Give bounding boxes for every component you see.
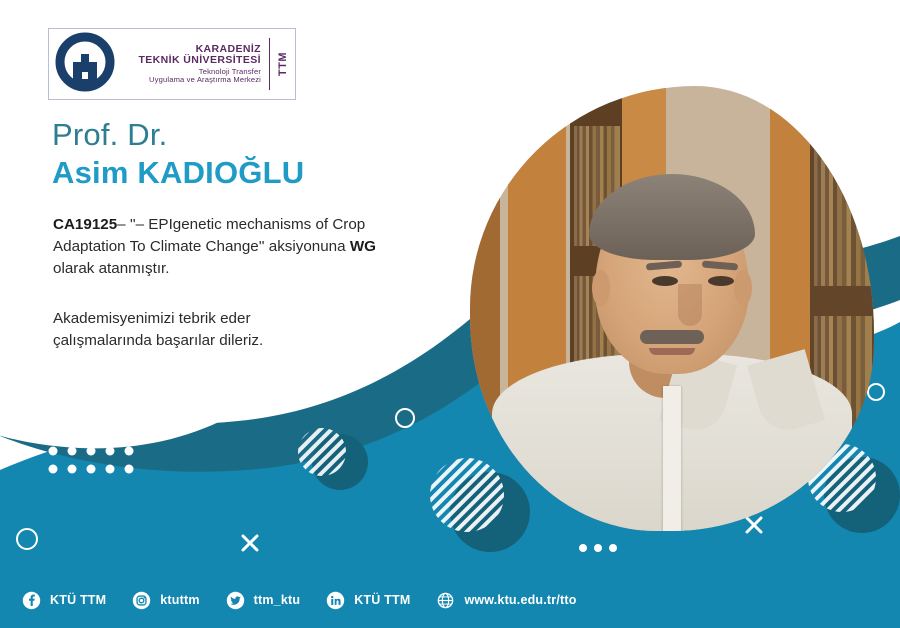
congrats-line-1: Akademisyenimizi tebrik eder [53, 308, 383, 330]
subject-ear-right [734, 270, 752, 306]
social-link-facebook[interactable]: KTÜ TTM [22, 591, 106, 610]
globe-icon [436, 591, 455, 610]
portrait-photo [470, 86, 874, 531]
social-footer: KTÜ TTM ktuttm ttm_ktu [0, 572, 900, 628]
poster-canvas: KARADENİZ TEKNİK ÜNİVERSİTESİ Teknoloji … [0, 0, 900, 628]
page-title: Prof. Dr. [52, 118, 452, 152]
social-link-twitter[interactable]: ttm_ktu [226, 591, 301, 610]
twitter-icon [226, 591, 245, 610]
subject-nose [678, 284, 702, 326]
linkedin-label: KTÜ TTM [354, 593, 410, 607]
subject-eye-left [652, 276, 678, 286]
logo-text-block: KARADENİZ TEKNİK ÜNİVERSİTESİ Teknoloji … [117, 44, 265, 84]
instagram-icon [132, 591, 151, 610]
linkedin-icon [326, 591, 345, 610]
logo-line-2: TEKNİK ÜNİVERSİTESİ [138, 55, 261, 66]
logo-divider [269, 38, 270, 90]
subject-mouth [649, 348, 695, 355]
subject-eye-right [708, 276, 734, 286]
social-link-linkedin[interactable]: KTÜ TTM [326, 591, 410, 610]
facebook-icon [22, 591, 41, 610]
decor-striped-circle [298, 428, 346, 476]
logo-line-4: Uygulama ve Araştırma Merkezi [149, 76, 261, 84]
books [814, 146, 872, 286]
congrats-line-2: çalışmalarında başarılar dileriz. [53, 330, 383, 352]
instagram-label: ktuttm [160, 593, 199, 607]
assignment-suffix: olarak atanmıştır. [53, 260, 170, 277]
facebook-label: KTÜ TTM [50, 593, 106, 607]
announcement-paragraph: CA19125– ''– EPIgenetic mechanisms of Cr… [53, 214, 403, 280]
ktu-ttm-logo: KARADENİZ TEKNİK ÜNİVERSİTESİ Teknoloji … [48, 28, 296, 100]
social-link-instagram[interactable]: ktuttm [132, 591, 199, 610]
logo-ttm-label: TTM [277, 52, 289, 76]
role-abbreviation: WG [350, 238, 376, 255]
subject-moustache [640, 330, 704, 344]
website-label: www.ktu.edu.tr/tto [464, 593, 576, 607]
twitter-label: ttm_ktu [254, 593, 301, 607]
action-code: CA19125 [53, 216, 117, 233]
ktu-circle-logo-icon [53, 32, 117, 96]
subject-shirt-placket [663, 386, 681, 531]
person-name: Asim KADIOĞLU [52, 154, 452, 191]
headline-block: Prof. Dr. Asim KADIOĞLU [52, 118, 452, 191]
website-link[interactable]: www.ktu.edu.tr/tto [436, 591, 576, 610]
congratulation-paragraph: Akademisyenimizi tebrik eder çalışmaları… [53, 308, 383, 352]
subject-ear-left [592, 270, 610, 306]
decor-small-dots [579, 544, 617, 552]
